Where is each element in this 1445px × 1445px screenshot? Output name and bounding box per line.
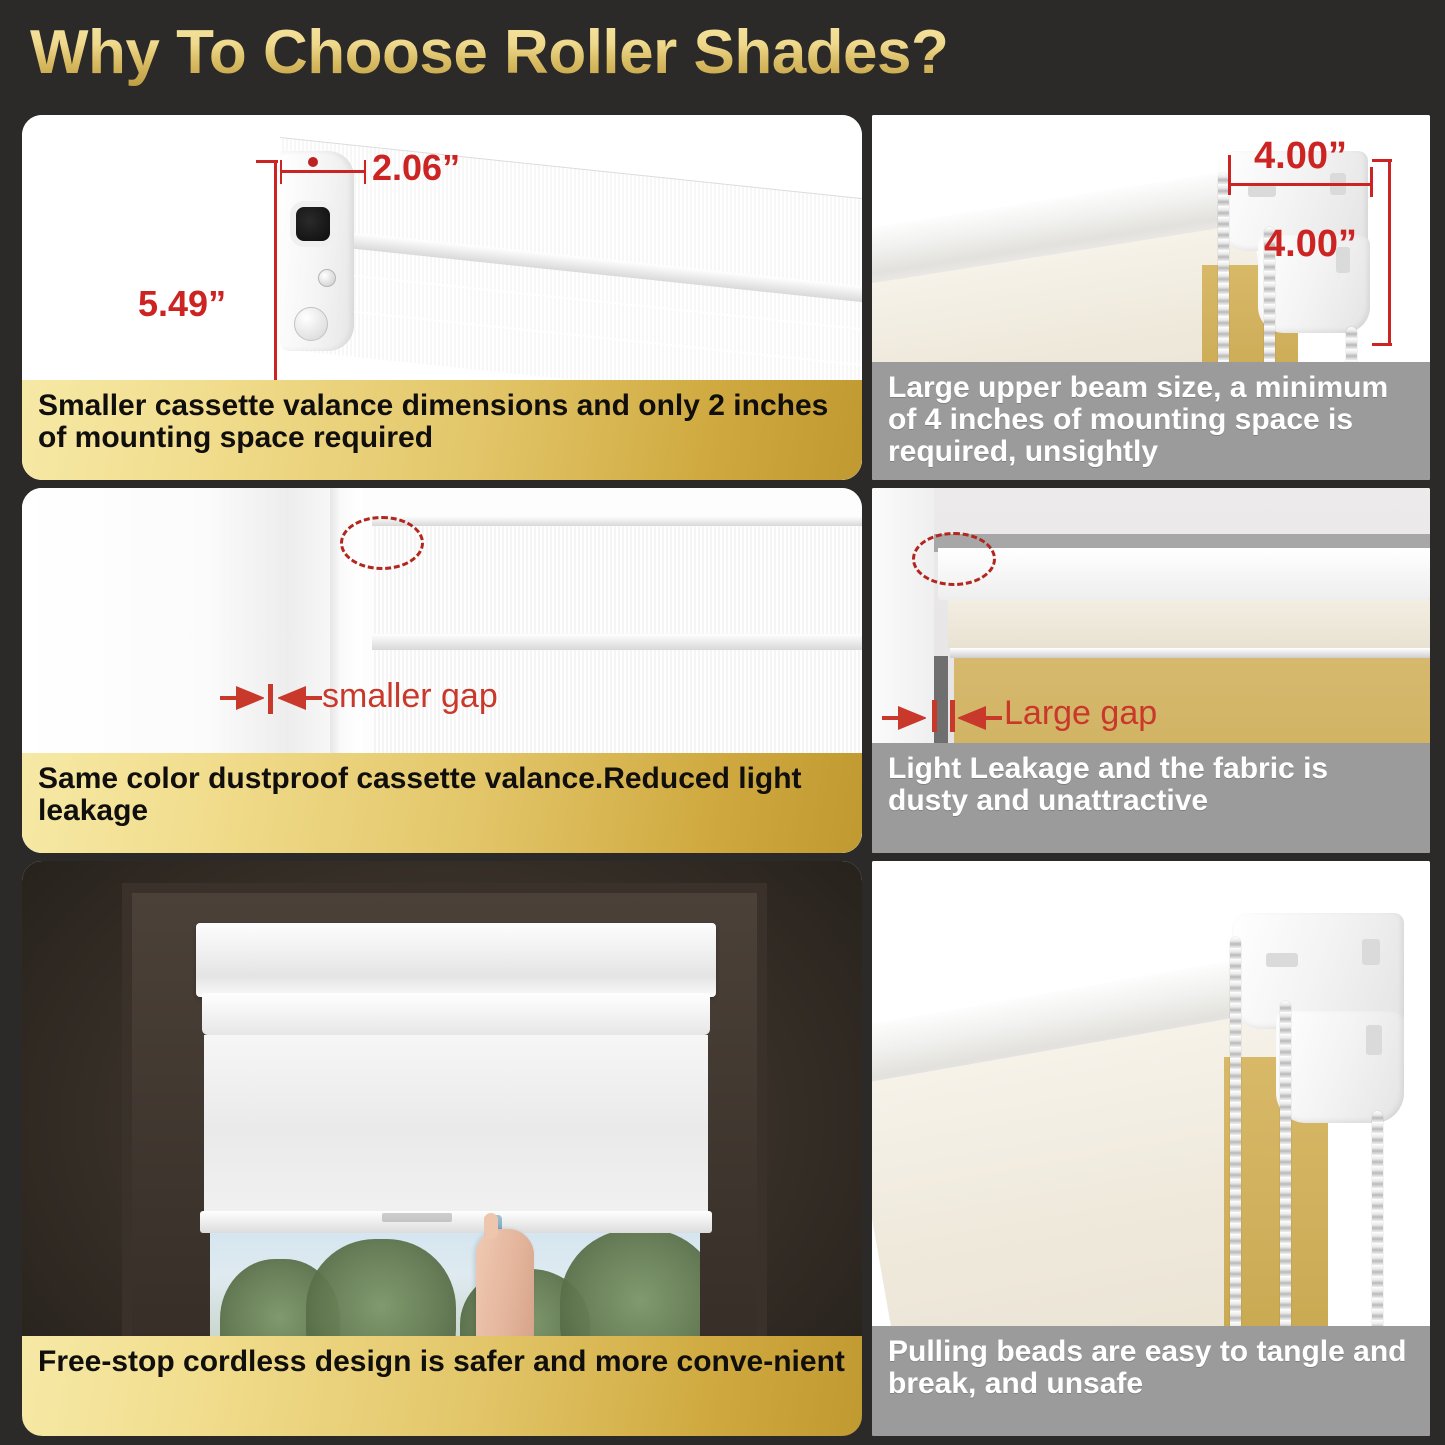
- beam-height-line: [1388, 159, 1391, 345]
- panel-4-caption: Light Leakage and the fabric is dusty an…: [872, 743, 1430, 853]
- beam-height-tick-bottom: [1372, 343, 1392, 346]
- comparison-grid: 2.06” 5.49” Smaller cassette valance dim…: [0, 110, 1445, 1440]
- beam-width-tick-left: [1228, 155, 1231, 195]
- height-dimension-label: 5.49”: [138, 283, 226, 325]
- beam-width-label: 4.00”: [1254, 135, 1347, 178]
- panel-pulling-beads[interactable]: Pulling beads are easy to tangle and bre…: [872, 861, 1430, 1436]
- width-dimension-line: [280, 170, 366, 173]
- panel-6-caption: Pulling beads are easy to tangle and bre…: [872, 1326, 1430, 1436]
- roller-bracket-lower-6: [1276, 1011, 1404, 1123]
- large-gap-label: Large gap: [1004, 694, 1157, 733]
- valance-end-cap: [280, 151, 354, 351]
- beam-height-label: 4.00”: [1264, 223, 1357, 266]
- cassette-valance-top: [196, 923, 716, 997]
- panel-2-caption: Large upper beam size, a minimum of 4 in…: [872, 362, 1430, 480]
- bead-chain-b: [1280, 1001, 1291, 1357]
- beam-width-tick-right: [1370, 167, 1373, 197]
- cassette-valance-lip: [202, 993, 710, 1035]
- gap-marker: [268, 684, 273, 714]
- gap-arrow-right: [278, 686, 322, 710]
- highlight-circle-large-gap: [912, 532, 996, 586]
- gap-arrow-left: [220, 686, 264, 710]
- end-cap-pin: [308, 157, 318, 167]
- cream-fabric-band: [948, 600, 1430, 648]
- height-tick-top: [256, 160, 278, 163]
- headrail: [938, 548, 1430, 600]
- beam-height-tick-top: [1372, 159, 1392, 162]
- large-gap-marker-b: [950, 700, 955, 732]
- roller-shade-fabric: [204, 1035, 708, 1223]
- panel-large-upper-beam[interactable]: 4.00” 4.00” Large upper beam size, a min…: [872, 115, 1430, 480]
- page-title: Why To Choose Roller Shades?: [30, 14, 1130, 92]
- hand-pulling-shade: [476, 1229, 534, 1349]
- window-frame: [122, 883, 767, 1383]
- highlight-circle-gap: [340, 516, 424, 570]
- shade-bottom-rail: [200, 1211, 712, 1233]
- panel-1-caption: Smaller cassette valance dimensions and …: [22, 380, 862, 480]
- bottom-rail: [950, 648, 1430, 658]
- panel-light-leakage[interactable]: Large gap Light Leakage and the fabric i…: [872, 488, 1430, 853]
- large-gap-arrow-right: [958, 706, 1002, 730]
- width-dimension-label: 2.06”: [372, 147, 460, 189]
- panel-dustproof-valance[interactable]: smaller gap Same color dustproof cassett…: [22, 488, 862, 853]
- bead-chain-a: [1230, 937, 1241, 1357]
- end-cap-screw: [318, 269, 336, 287]
- panel-cordless-design[interactable]: Free-stop cordless design is safer and m…: [22, 861, 862, 1436]
- large-gap-marker-a: [932, 700, 937, 732]
- panel-5-caption: Free-stop cordless design is safer and m…: [22, 1336, 862, 1436]
- large-gap-arrow-left: [882, 706, 926, 730]
- panel-3-caption: Same color dustproof cassette valance.Re…: [22, 753, 862, 853]
- bead-chain-c: [1372, 1111, 1383, 1357]
- brand-logo-mark: [382, 1213, 452, 1222]
- smaller-gap-label: smaller gap: [322, 677, 498, 716]
- end-cap-knob: [294, 307, 328, 341]
- beam-width-line: [1228, 183, 1373, 186]
- panel-smaller-cassette[interactable]: 2.06” 5.49” Smaller cassette valance dim…: [22, 115, 862, 480]
- end-cap-slot: [296, 207, 330, 241]
